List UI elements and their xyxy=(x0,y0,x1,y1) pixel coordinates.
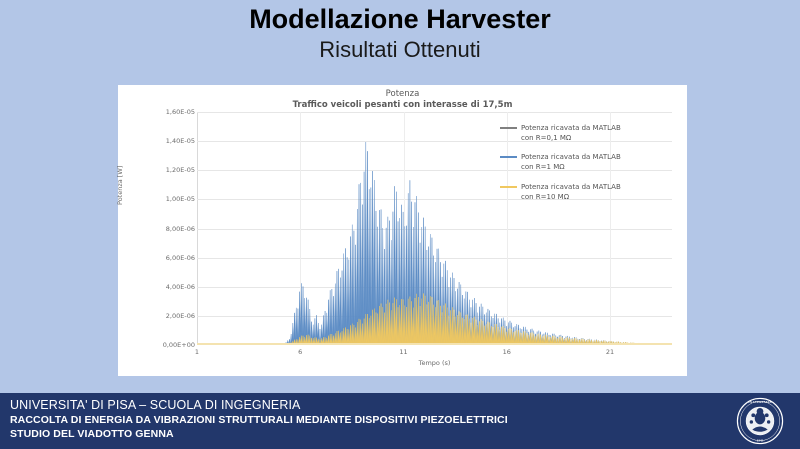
footer-bar: UNIVERSITA' DI PISA – SCUOLA DI INGEGNER… xyxy=(0,393,800,449)
chart-card: Potenza Traffico veicoli pesanti con int… xyxy=(118,85,687,376)
footer-text-block: UNIVERSITA' DI PISA – SCUOLA DI INGEGNER… xyxy=(10,397,710,442)
x-axis-title: Tempo (s) xyxy=(197,359,672,367)
footer-university-line: UNIVERSITA' DI PISA – SCUOLA DI INGEGNER… xyxy=(10,397,710,414)
chart-title-block: Potenza Traffico veicoli pesanti con int… xyxy=(118,89,687,112)
y-tick-label: 6,00E-06 xyxy=(123,254,195,262)
chart-legend: Potenza ricavata da MATLABcon R=0,1 MΩPo… xyxy=(500,123,672,211)
x-tick-label: 11 xyxy=(399,348,407,356)
slide-title-block: Modellazione Harvester Risultati Ottenut… xyxy=(0,4,800,63)
footer-thesis-line-2: STUDIO DEL VIADOTTO GENNA xyxy=(10,428,710,442)
legend-swatch-2 xyxy=(500,156,517,158)
page-subtitle: Risultati Ottenuti xyxy=(0,37,800,63)
seal-motto-text: IN SVPREMAE xyxy=(748,400,772,404)
y-tick-label: 8,00E-06 xyxy=(123,225,195,233)
y-tick-label: 0,00E+00 xyxy=(123,341,195,349)
legend-swatch-3 xyxy=(500,186,517,188)
legend-item-1[interactable]: Potenza ricavata da MATLABcon R=0,1 MΩ xyxy=(500,123,672,143)
y-tick-label: 1,60E-05 xyxy=(123,108,195,116)
y-tick-label: 4,00E-06 xyxy=(123,283,195,291)
y-tick-label: 1,40E-05 xyxy=(123,137,195,145)
y-tick-label: 1,00E-05 xyxy=(123,195,195,203)
legend-label-3: Potenza ricavata da MATLABcon R=10 MΩ xyxy=(521,182,621,202)
legend-label-2: Potenza ricavata da MATLABcon R=1 MΩ xyxy=(521,152,621,172)
y-tick-label: 2,00E-06 xyxy=(123,312,195,320)
y-axis-ticks: 1,60E-051,40E-051,20E-051,00E-058,00E-06… xyxy=(118,112,195,345)
footer-thesis-line-1: RACCOLTA DI ENERGIA DA VIBRAZIONI STRUTT… xyxy=(10,414,710,428)
x-tick-label: 6 xyxy=(298,348,302,356)
x-tick-label: 21 xyxy=(606,348,614,356)
x-tick-label: 16 xyxy=(503,348,511,356)
chart-subtitle: Traffico veicoli pesanti con interasse d… xyxy=(118,100,687,111)
x-tick-label: 1 xyxy=(195,348,199,356)
y-tick-label: 1,20E-05 xyxy=(123,166,195,174)
legend-swatch-1 xyxy=(500,127,517,129)
chart-title: Potenza xyxy=(118,89,687,100)
university-of-pisa-seal-logo: IN SVPREMAE · 1343 · xyxy=(736,397,784,445)
legend-label-1: Potenza ricavata da MATLABcon R=0,1 MΩ xyxy=(521,123,621,143)
x-axis-line xyxy=(197,343,672,345)
seal-year-text: · 1343 · xyxy=(755,439,766,443)
page-title: Modellazione Harvester xyxy=(0,4,800,35)
legend-item-2[interactable]: Potenza ricavata da MATLABcon R=1 MΩ xyxy=(500,152,672,172)
legend-item-3[interactable]: Potenza ricavata da MATLABcon R=10 MΩ xyxy=(500,182,672,202)
